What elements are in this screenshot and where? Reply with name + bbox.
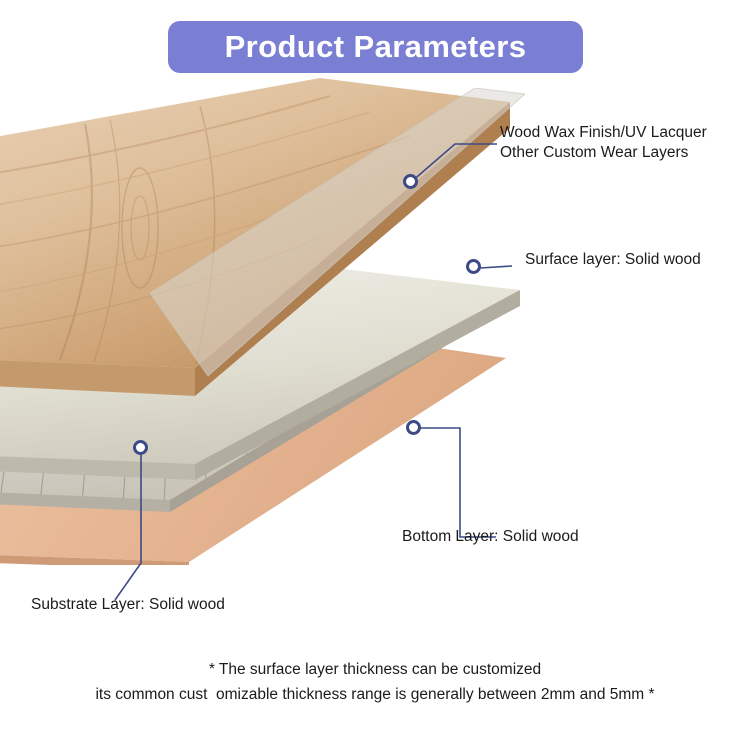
callout-dot-surface-layer: [466, 259, 481, 274]
callout-label-surface-layer: Surface layer: Solid wood: [525, 250, 701, 270]
callout-label-wear-layer: Wood Wax Finish/UV Lacquer Other Custom …: [500, 123, 707, 163]
callout-label-bottom-layer: Bottom Layer: Solid wood: [402, 527, 579, 547]
callout-dot-wear-layer: [403, 174, 418, 189]
callout-label-substrate-layer: Substrate Layer: Solid wood: [31, 595, 225, 615]
callout-dot-bottom-layer: [406, 420, 421, 435]
footnote-line-2: its common cust omizable thickness range…: [0, 682, 750, 707]
product-parameters-diagram: Product Parameters Wood Wax Finish/UV La…: [0, 0, 750, 729]
footnote-line-1: * The surface layer thickness can be cus…: [0, 657, 750, 682]
leader-lines: [0, 0, 750, 729]
callout-dot-substrate-layer: [133, 440, 148, 455]
footnote: * The surface layer thickness can be cus…: [0, 657, 750, 707]
